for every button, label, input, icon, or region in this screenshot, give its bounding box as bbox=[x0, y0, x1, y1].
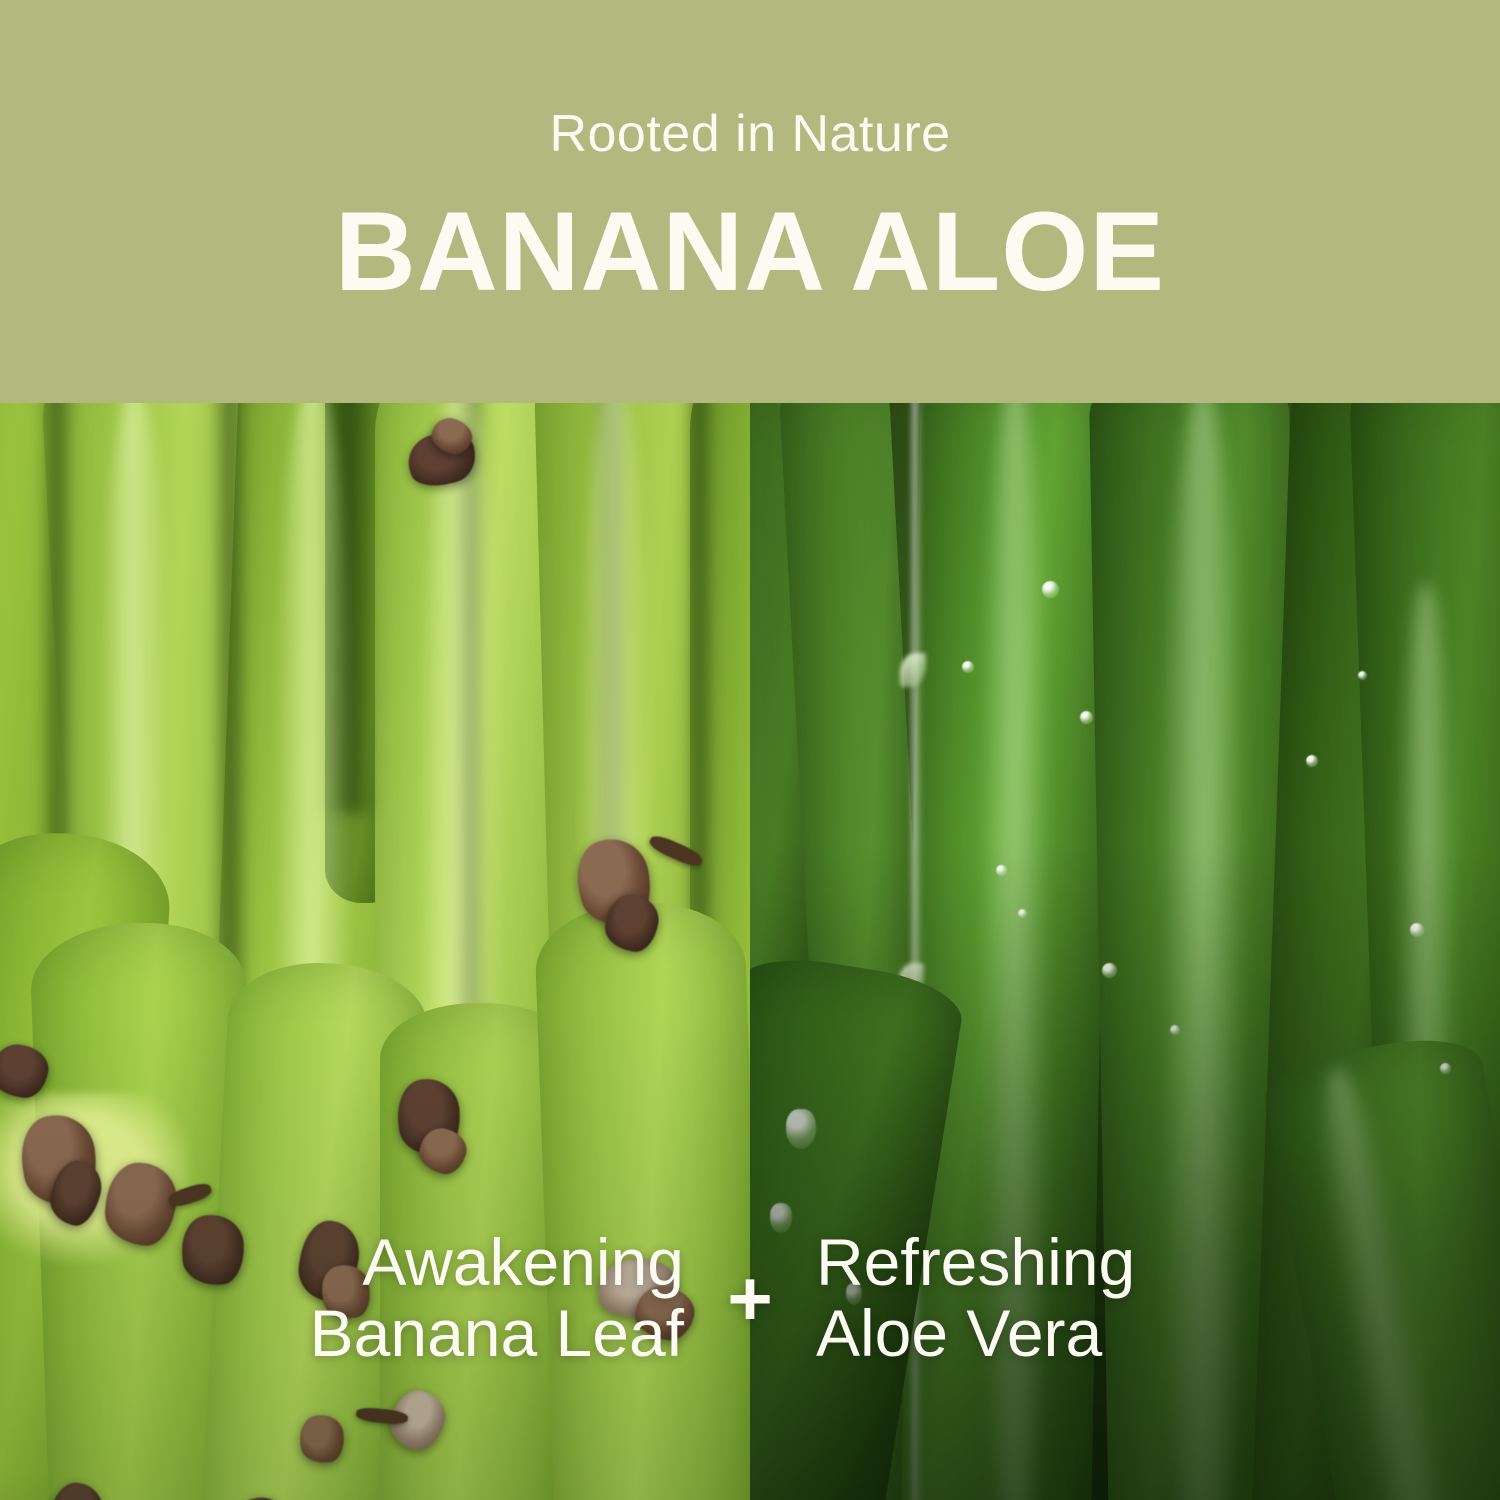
banana-photo bbox=[0, 403, 750, 1500]
ingredient-photo-split bbox=[0, 403, 1500, 1500]
product-ingredient-banner: Rooted in Nature BANANA ALOE bbox=[0, 0, 1500, 1500]
aloe-vignette bbox=[750, 403, 1500, 1500]
page-title: BANANA ALOE bbox=[335, 196, 1165, 308]
eyebrow-text: Rooted in Nature bbox=[549, 108, 950, 160]
aloe-photo bbox=[750, 403, 1500, 1500]
banana-vignette bbox=[0, 403, 750, 1500]
banana-photo-panel bbox=[0, 403, 750, 1500]
aloe-photo-panel bbox=[750, 403, 1500, 1500]
header-band: Rooted in Nature BANANA ALOE bbox=[0, 0, 1500, 403]
